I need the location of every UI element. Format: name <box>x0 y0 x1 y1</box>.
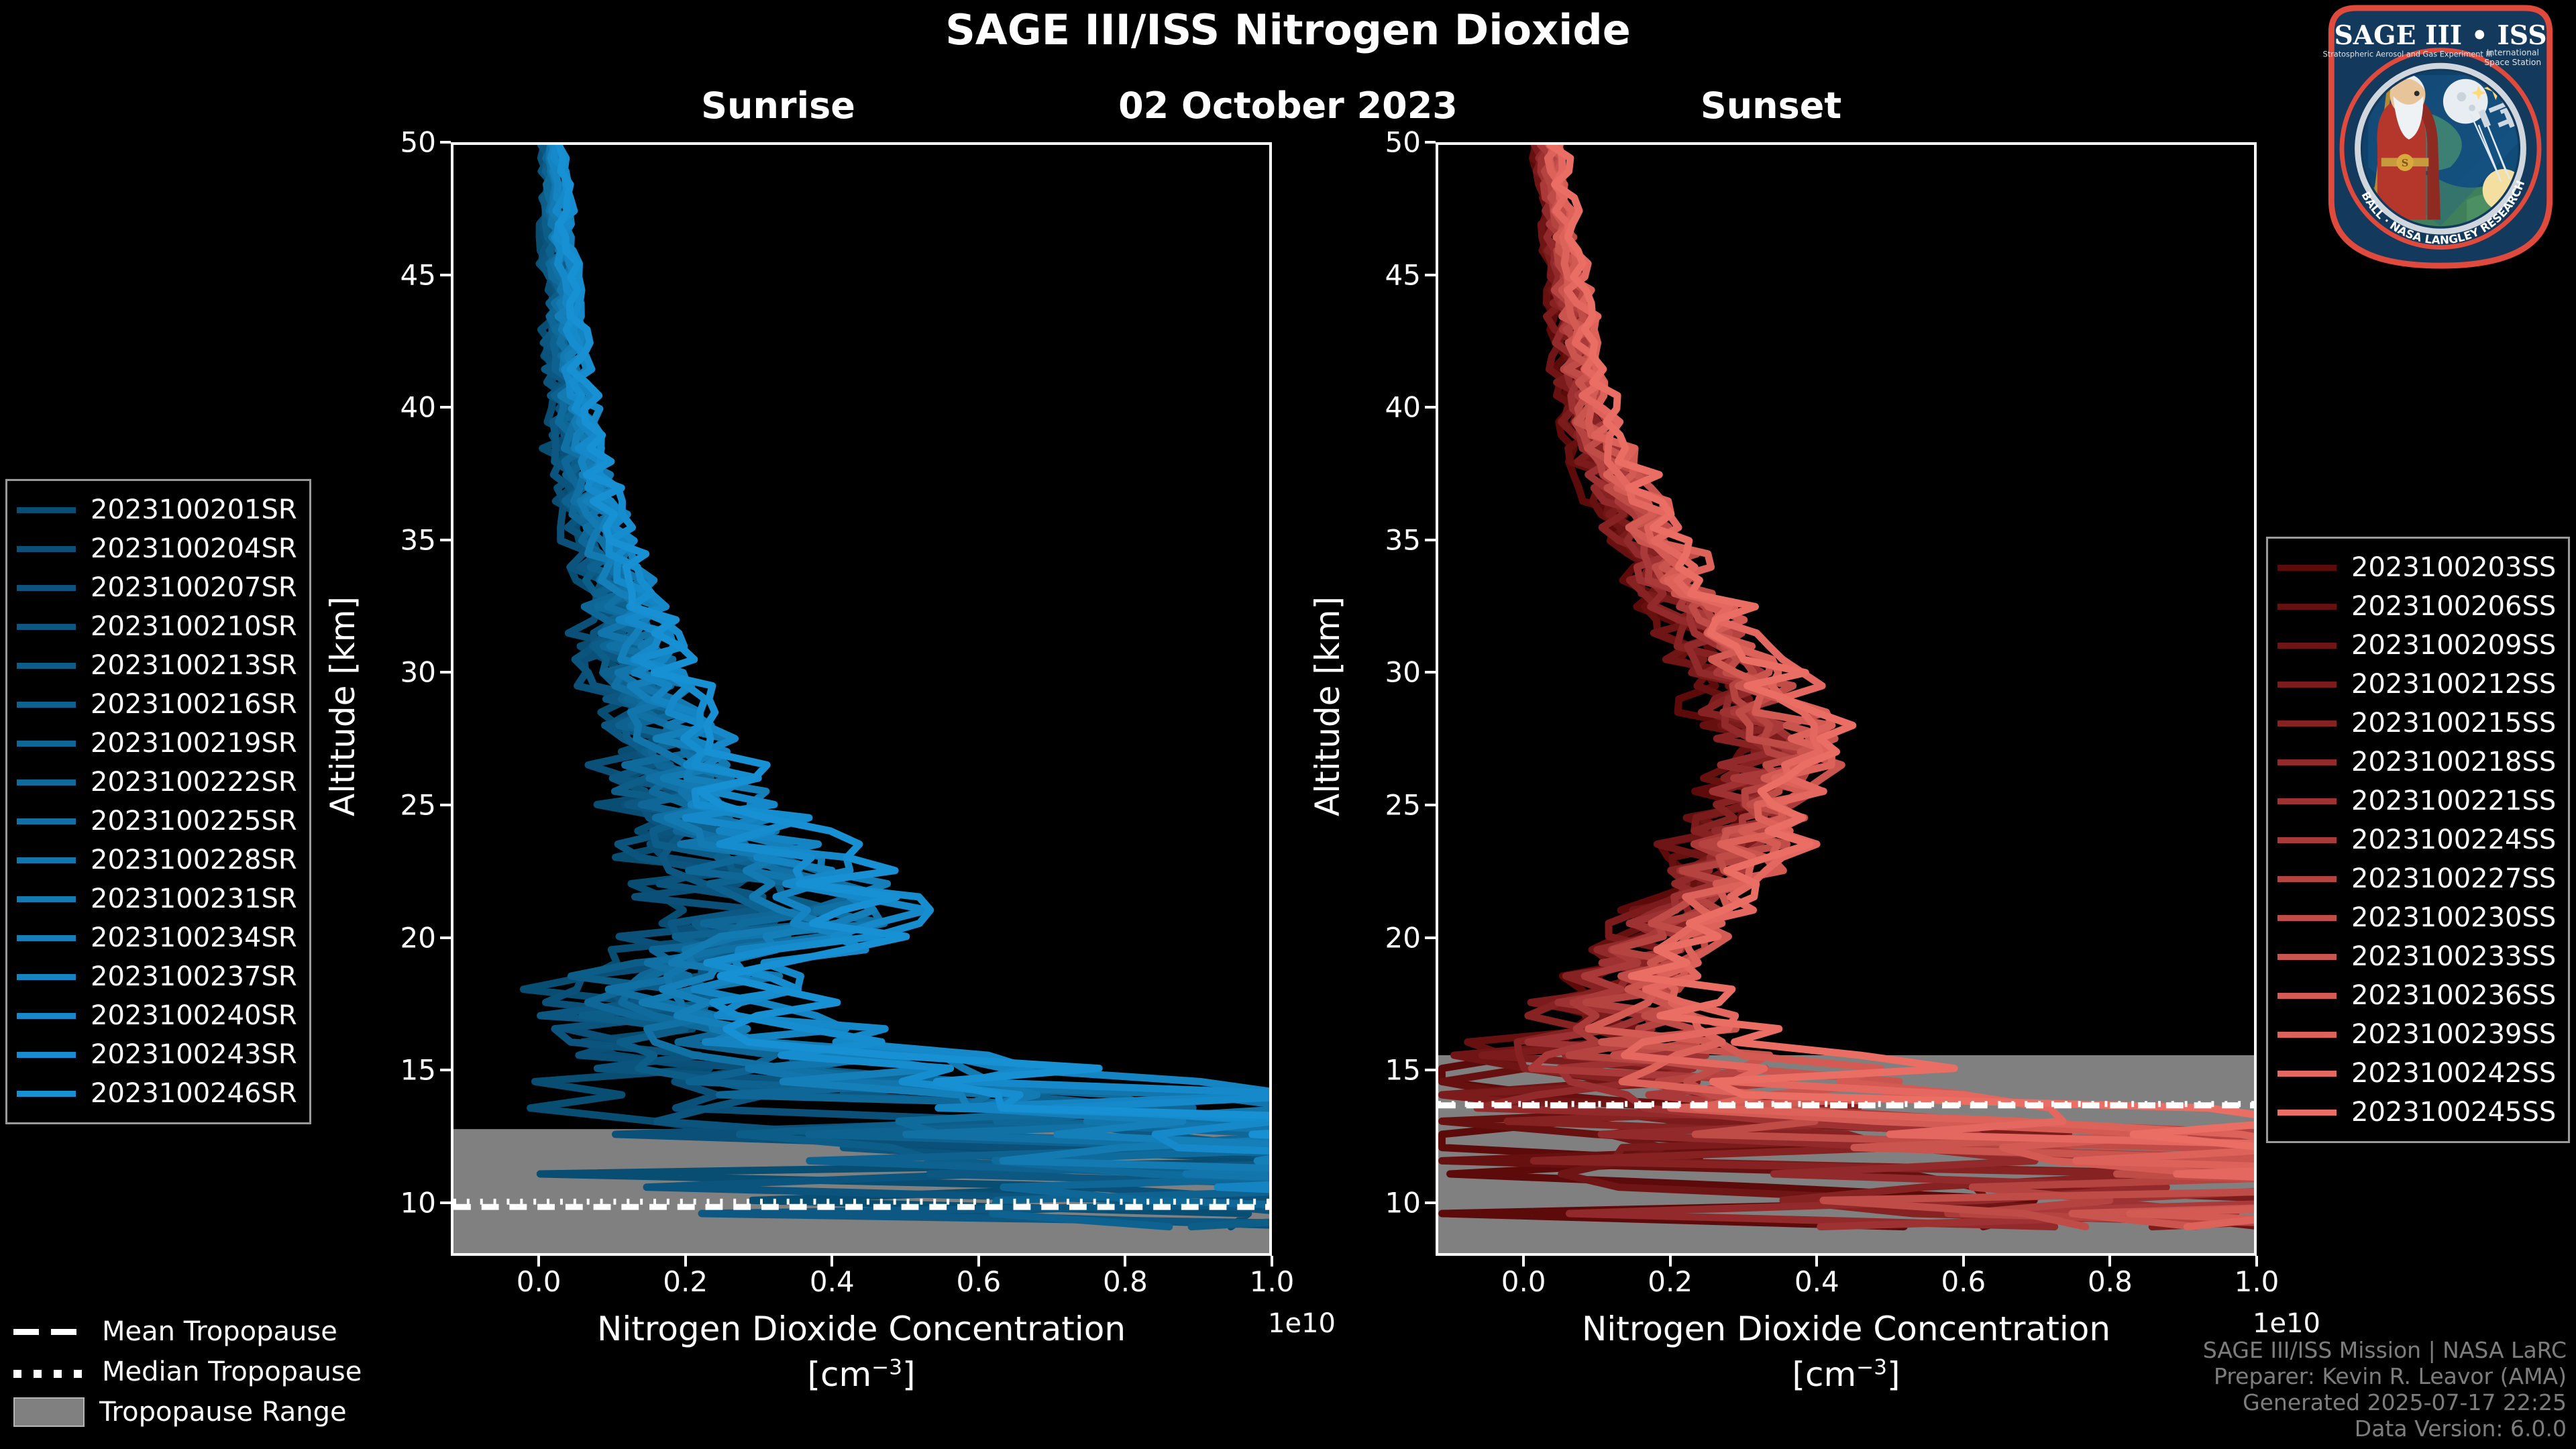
y-axis-tick-label: 20 <box>1340 921 1421 954</box>
x-axis-tick-label: 0.6 <box>925 1265 1032 1298</box>
legend-item-label: 2023100236SS <box>2351 980 2556 1011</box>
legend-item[interactable]: 2023100221SS <box>2277 782 2556 820</box>
x-axis-tick-mark <box>1815 1256 1818 1267</box>
sunrise-plot-area <box>451 142 1272 1256</box>
legend-row-median-tropopause: Median Tropopause <box>13 1352 362 1392</box>
y-axis-tick-label: 45 <box>356 258 436 291</box>
legend-color-swatch-icon <box>2277 1071 2337 1077</box>
y-axis-tick-mark <box>440 804 451 806</box>
y-axis-tick-label: 25 <box>1340 789 1421 822</box>
legend-color-swatch-icon <box>2277 798 2337 804</box>
page-title: SAGE III/ISS Nitrogen Dioxide <box>0 5 2576 54</box>
y-axis-tick-mark <box>440 274 451 276</box>
legend-color-swatch-icon <box>17 974 76 980</box>
mean-tropopause-line-icon <box>13 1323 87 1340</box>
legend-item[interactable]: 2023100224SS <box>2277 820 2556 859</box>
legend-label-tropopause-range: Tropopause Range <box>99 1397 347 1428</box>
logo-subtitle-right-1: International <box>2487 48 2539 57</box>
x-axis-tick-label: 0.8 <box>2056 1265 2163 1298</box>
legend-item-label: 2023100245SS <box>2351 1097 2556 1128</box>
credits-line-preparer: Preparer: Kevin R. Leavor (AMA) <box>2203 1364 2567 1390</box>
x-axis-tick-mark <box>977 1256 980 1267</box>
y-axis-tick-label: 10 <box>356 1186 436 1219</box>
credits-line-generated: Generated 2025-07-17 22:25 <box>2203 1390 2567 1416</box>
x-axis-tick-label: 0.2 <box>632 1265 739 1298</box>
legend-item[interactable]: 2023100228SR <box>17 841 297 879</box>
legend-row-mean-tropopause: Mean Tropopause <box>13 1311 362 1352</box>
sunset-panel-label: Sunset <box>1623 85 1919 127</box>
x-axis-title: Nitrogen Dioxide Concentration <box>451 1309 1272 1348</box>
date-subtitle: 02 October 2023 <box>939 85 1637 127</box>
y-axis-tick-mark <box>1425 804 1436 806</box>
y-axis-tick-label: 50 <box>1340 126 1421 159</box>
legend-color-swatch-icon <box>17 507 76 513</box>
y-axis-tick-label: 45 <box>1340 258 1421 291</box>
legend-color-swatch-icon <box>2277 720 2337 727</box>
x-axis-tick-label: 1.0 <box>1218 1265 1326 1298</box>
legend-item-label: 2023100204SR <box>91 533 297 564</box>
credits-block: SAGE III/ISS Mission | NASA LaRC Prepare… <box>2203 1338 2567 1442</box>
legend-item-label: 2023100234SR <box>91 922 297 953</box>
x-axis-tick-label: 0.0 <box>1470 1265 1577 1298</box>
legend-item-label: 2023100218SS <box>2351 747 2556 777</box>
legend-color-swatch-icon <box>2277 604 2337 610</box>
legend-color-swatch-icon <box>17 1091 76 1097</box>
legend-item[interactable]: 2023100219SR <box>17 724 297 763</box>
legend-item[interactable]: 2023100233SS <box>2277 937 2556 976</box>
legend-item[interactable]: 2023100215SS <box>2277 704 2556 743</box>
legend-item-label: 2023100216SR <box>91 689 297 720</box>
legend-color-swatch-icon <box>2277 837 2337 843</box>
legend-item-label: 2023100213SR <box>91 650 297 681</box>
x-axis-tick-mark <box>537 1256 540 1267</box>
legend-item-label: 2023100207SR <box>91 572 297 603</box>
x-axis-tick-mark <box>1522 1256 1525 1267</box>
y-axis-tick-mark <box>1425 1069 1436 1071</box>
legend-item-label: 2023100243SR <box>91 1039 297 1070</box>
legend-item[interactable]: 2023100236SS <box>2277 976 2556 1015</box>
x-axis-title: Nitrogen Dioxide Concentration <box>1436 1309 2257 1348</box>
y-axis-tick-label: 10 <box>1340 1186 1421 1219</box>
legend-row-tropopause-range: Tropopause Range <box>13 1392 362 1432</box>
legend-item-label: 2023100210SR <box>91 611 297 642</box>
legend-item-label: 2023100237SR <box>91 961 297 992</box>
legend-item-label: 2023100240SR <box>91 1000 297 1031</box>
x-axis-units: [cm−3] <box>1436 1355 2257 1394</box>
y-axis-tick-mark <box>440 406 451 409</box>
y-axis-tick-mark <box>440 936 451 939</box>
y-axis-tick-mark <box>440 1069 451 1071</box>
y-axis-tick-label: 15 <box>356 1054 436 1087</box>
x-axis-tick-label: 1.0 <box>2203 1265 2310 1298</box>
y-axis-tick-mark <box>1425 936 1436 939</box>
legend-item-label: 2023100215SS <box>2351 708 2556 739</box>
x-axis-tick-mark <box>684 1256 687 1267</box>
legend-color-swatch-icon <box>17 935 76 941</box>
legend-color-swatch-icon <box>2277 1110 2337 1116</box>
legend-item[interactable]: 2023100206SS <box>2277 587 2556 626</box>
y-axis-tick-label: 50 <box>356 126 436 159</box>
legend-tropopause: Mean Tropopause Median Tropopause Tropop… <box>13 1311 362 1432</box>
x-axis-offset-text: 1e10 <box>1268 1308 1336 1339</box>
legend-item-label: 2023100222SR <box>91 767 297 798</box>
y-axis-tick-label: 20 <box>356 921 436 954</box>
legend-item[interactable]: 2023100209SS <box>2277 626 2556 665</box>
legend-color-swatch-icon <box>17 663 76 669</box>
legend-item-label: 2023100203SS <box>2351 552 2556 583</box>
legend-item[interactable]: 2023100227SS <box>2277 859 2556 898</box>
legend-color-swatch-icon <box>17 780 76 786</box>
y-axis-tick-label: 40 <box>1340 391 1421 424</box>
legend-color-swatch-icon <box>2277 876 2337 882</box>
credits-line-version: Data Version: 6.0.0 <box>2203 1416 2567 1442</box>
legend-item-label: 2023100221SS <box>2351 786 2556 816</box>
legend-item-label: 2023100225SR <box>91 806 297 837</box>
legend-item[interactable]: 2023100242SS <box>2277 1054 2556 1093</box>
legend-color-swatch-icon <box>17 702 76 708</box>
x-axis-tick-mark <box>2255 1256 2258 1267</box>
legend-item[interactable]: 2023100230SS <box>2277 898 2556 937</box>
x-axis-tick-mark <box>1669 1256 1672 1267</box>
y-axis-tick-mark <box>1425 671 1436 674</box>
legend-color-swatch-icon <box>2277 915 2337 921</box>
legend-item-label: 2023100219SR <box>91 728 297 759</box>
logo-title: SAGE III • ISS <box>2334 20 2546 51</box>
legend-item[interactable]: 2023100239SS <box>2277 1015 2556 1054</box>
legend-color-swatch-icon <box>17 818 76 824</box>
sage-iii-iss-mission-patch-logo: S SAGE III • ISS Stratospheric Aerosol a… <box>2309 3 2572 271</box>
sunset-profile-curves <box>1438 145 2254 1253</box>
legend-item[interactable]: 2023100207SR <box>17 568 297 607</box>
x-axis-tick-label: 0.8 <box>1071 1265 1179 1298</box>
y-axis-tick-label: 15 <box>1340 1054 1421 1087</box>
legend-sunrise[interactable]: 2023100201SR2023100204SR2023100207SR2023… <box>5 479 311 1124</box>
legend-item[interactable]: 2023100203SS <box>2277 548 2556 587</box>
tropopause-range-swatch-icon <box>13 1397 85 1427</box>
legend-item-label: 2023100209SS <box>2351 630 2556 661</box>
legend-color-swatch-icon <box>2277 993 2337 999</box>
legend-item[interactable]: 2023100240SR <box>17 996 297 1035</box>
legend-item-label: 2023100227SS <box>2351 863 2556 894</box>
x-axis-tick-label: 0.2 <box>1617 1265 1724 1298</box>
legend-item-label: 2023100228SR <box>91 845 297 875</box>
x-axis-tick-label: 0.4 <box>1763 1265 1870 1298</box>
legend-item[interactable]: 2023100237SR <box>17 957 297 996</box>
legend-item-label: 2023100231SR <box>91 883 297 914</box>
legend-item[interactable]: 2023100245SS <box>2277 1093 2556 1132</box>
legend-color-swatch-icon <box>17 741 76 747</box>
legend-item-label: 2023100233SS <box>2351 941 2556 972</box>
svg-text:S: S <box>2402 158 2409 169</box>
y-axis-tick-mark <box>440 1201 451 1204</box>
sunrise-profile-curves <box>453 145 1269 1253</box>
y-axis-tick-mark <box>1425 539 1436 541</box>
y-axis-tick-label: 35 <box>356 523 436 556</box>
y-axis-tick-label: 40 <box>356 391 436 424</box>
y-axis-tick-mark <box>440 539 451 541</box>
legend-color-swatch-icon <box>17 1052 76 1058</box>
legend-item[interactable]: 2023100212SS <box>2277 665 2556 704</box>
legend-item[interactable]: 2023100213SR <box>17 646 297 685</box>
x-axis-units: [cm−3] <box>451 1355 1272 1394</box>
legend-color-swatch-icon <box>17 857 76 863</box>
y-axis-tick-mark <box>1425 274 1436 276</box>
y-axis-tick-mark <box>1425 141 1436 144</box>
legend-item[interactable]: 2023100225SR <box>17 802 297 841</box>
legend-color-swatch-icon <box>2277 954 2337 960</box>
y-axis-tick-mark <box>440 671 451 674</box>
legend-item[interactable]: 2023100234SR <box>17 918 297 957</box>
sunset-plot-area <box>1436 142 2257 1256</box>
logo-subtitle-right-2: Space Station <box>2484 58 2541 67</box>
legend-color-swatch-icon <box>2277 643 2337 649</box>
legend-color-swatch-icon <box>17 1013 76 1019</box>
legend-item[interactable]: 2023100204SR <box>17 529 297 568</box>
legend-item-label: 2023100224SS <box>2351 824 2556 855</box>
legend-label-mean-tropopause: Mean Tropopause <box>102 1316 337 1347</box>
legend-item[interactable]: 2023100201SR <box>17 490 297 529</box>
y-axis-tick-label: 30 <box>356 656 436 689</box>
y-axis-title: Altitude [km] <box>323 596 362 816</box>
legend-item-label: 2023100242SS <box>2351 1058 2556 1089</box>
x-axis-tick-mark <box>2108 1256 2111 1267</box>
legend-label-median-tropopause: Median Tropopause <box>102 1356 362 1387</box>
logo-subtitle-left: Stratospheric Aerosol and Gas Experiment… <box>2323 50 2493 58</box>
legend-item-label: 2023100230SS <box>2351 902 2556 933</box>
x-axis-tick-label: 0.4 <box>778 1265 885 1298</box>
x-axis-tick-label: 0.6 <box>1910 1265 2017 1298</box>
legend-item-label: 2023100206SS <box>2351 591 2556 622</box>
legend-sunset[interactable]: 2023100203SS2023100206SS2023100209SS2023… <box>2266 537 2570 1143</box>
legend-color-swatch-icon <box>2277 759 2337 765</box>
legend-item[interactable]: 2023100218SS <box>2277 743 2556 782</box>
legend-color-swatch-icon <box>2277 682 2337 688</box>
legend-item-label: 2023100246SR <box>91 1078 297 1109</box>
legend-item[interactable]: 2023100216SR <box>17 685 297 724</box>
y-axis-tick-mark <box>440 141 451 144</box>
x-axis-offset-text: 1e10 <box>2253 1308 2320 1339</box>
y-axis-title: Altitude [km] <box>1308 596 1347 816</box>
legend-color-swatch-icon <box>17 585 76 591</box>
legend-color-swatch-icon <box>17 624 76 630</box>
x-axis-tick-mark <box>1271 1256 1273 1267</box>
median-tropopause-line-icon <box>13 1363 87 1381</box>
credits-line-mission: SAGE III/ISS Mission | NASA LaRC <box>2203 1338 2567 1364</box>
y-axis-tick-label: 25 <box>356 789 436 822</box>
x-axis-tick-mark <box>830 1256 833 1267</box>
x-axis-tick-mark <box>1962 1256 1965 1267</box>
legend-item-label: 2023100201SR <box>91 494 297 525</box>
sunrise-panel-label: Sunrise <box>631 85 926 127</box>
legend-item-label: 2023100212SS <box>2351 669 2556 700</box>
legend-color-swatch-icon <box>17 896 76 902</box>
legend-item[interactable]: 2023100210SR <box>17 607 297 646</box>
x-axis-tick-label: 0.0 <box>485 1265 592 1298</box>
legend-item-label: 2023100239SS <box>2351 1019 2556 1050</box>
legend-item[interactable]: 2023100231SR <box>17 879 297 918</box>
y-axis-tick-label: 30 <box>1340 656 1421 689</box>
legend-color-swatch-icon <box>2277 565 2337 571</box>
legend-item[interactable]: 2023100246SR <box>17 1074 297 1113</box>
legend-color-swatch-icon <box>2277 1032 2337 1038</box>
y-axis-tick-label: 35 <box>1340 523 1421 556</box>
legend-item[interactable]: 2023100243SR <box>17 1035 297 1074</box>
x-axis-tick-mark <box>1124 1256 1126 1267</box>
y-axis-tick-mark <box>1425 1201 1436 1204</box>
legend-item[interactable]: 2023100222SR <box>17 763 297 802</box>
legend-color-swatch-icon <box>17 546 76 552</box>
y-axis-tick-mark <box>1425 406 1436 409</box>
